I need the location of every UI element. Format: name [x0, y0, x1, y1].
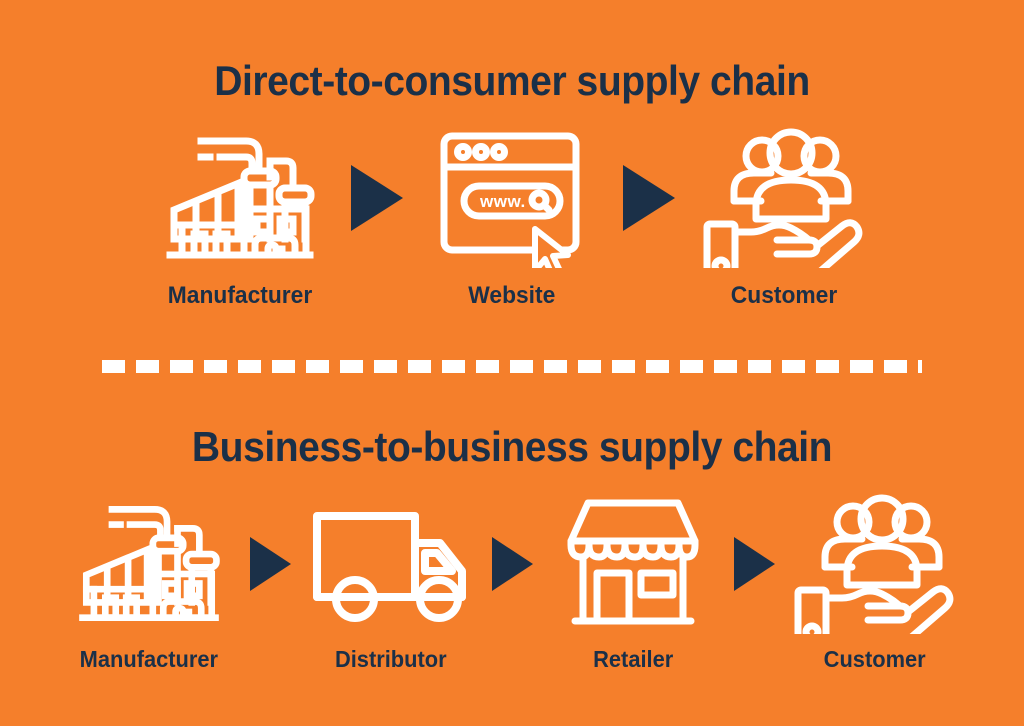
node-label-website: Website	[468, 282, 555, 310]
node-manufacturer-d2c: Manufacturer	[150, 128, 330, 310]
arrow-manufacturer-to-website	[330, 128, 422, 268]
icon-box-manufacturer-d2c	[150, 128, 330, 268]
arrow-right-icon	[618, 162, 678, 234]
browser-window-icon: www.	[432, 128, 592, 268]
page-title-b2b: Business-to-business supply chain	[36, 396, 988, 468]
node-distributor: Distributor	[306, 494, 476, 673]
dashed-divider	[102, 360, 922, 373]
node-customer-d2c: Customer	[694, 128, 874, 310]
arrow-manufacturer-to-distributor	[234, 494, 306, 634]
factory-icon	[73, 499, 225, 629]
node-label-customer-d2c: Customer	[731, 282, 837, 310]
arrow-retailer-to-customer	[718, 494, 790, 634]
section-business-to-business: Business-to-business supply chain	[0, 396, 1024, 726]
chain-b2b: Manufacturer	[0, 494, 1024, 673]
node-label-distributor: Distributor	[335, 646, 447, 673]
icon-box-customer-d2c	[694, 128, 874, 268]
icon-box-distributor	[306, 494, 476, 634]
hand-holding-people-icon	[699, 128, 869, 268]
factory-icon	[160, 131, 320, 266]
chain-d2c: Manufacturer	[0, 128, 1024, 310]
node-website: www. Website	[422, 128, 602, 310]
browser-address-text: www.	[479, 192, 526, 211]
icon-box-manufacturer-b2b	[64, 494, 234, 634]
arrow-right-icon	[488, 535, 536, 593]
node-retailer: Retailer	[548, 494, 718, 673]
mouse-pointer-icon	[535, 229, 568, 268]
delivery-truck-icon	[307, 503, 475, 625]
storefront-icon	[563, 497, 703, 631]
arrow-right-icon	[246, 535, 294, 593]
hand-holding-people-icon	[790, 494, 960, 634]
icon-box-retailer	[548, 494, 718, 634]
node-label-manufacturer-d2c: Manufacturer	[168, 282, 312, 310]
node-label-customer-b2b: Customer	[824, 646, 926, 673]
arrow-right-icon	[346, 162, 406, 234]
icon-box-website: www.	[422, 128, 602, 268]
arrow-distributor-to-retailer	[476, 494, 548, 634]
page-title-d2c: Direct-to-consumer supply chain	[36, 0, 988, 102]
node-manufacturer-b2b: Manufacturer	[64, 494, 234, 673]
node-label-manufacturer-b2b: Manufacturer	[80, 646, 218, 673]
node-customer-b2b: Customer	[790, 494, 960, 673]
node-label-retailer: Retailer	[593, 646, 673, 673]
icon-box-customer-b2b	[790, 494, 960, 634]
supply-chain-infographic: Direct-to-consumer supply chain	[0, 0, 1024, 726]
section-direct-to-consumer: Direct-to-consumer supply chain	[0, 0, 1024, 350]
arrow-right-icon	[730, 535, 778, 593]
arrow-website-to-customer	[602, 128, 694, 268]
